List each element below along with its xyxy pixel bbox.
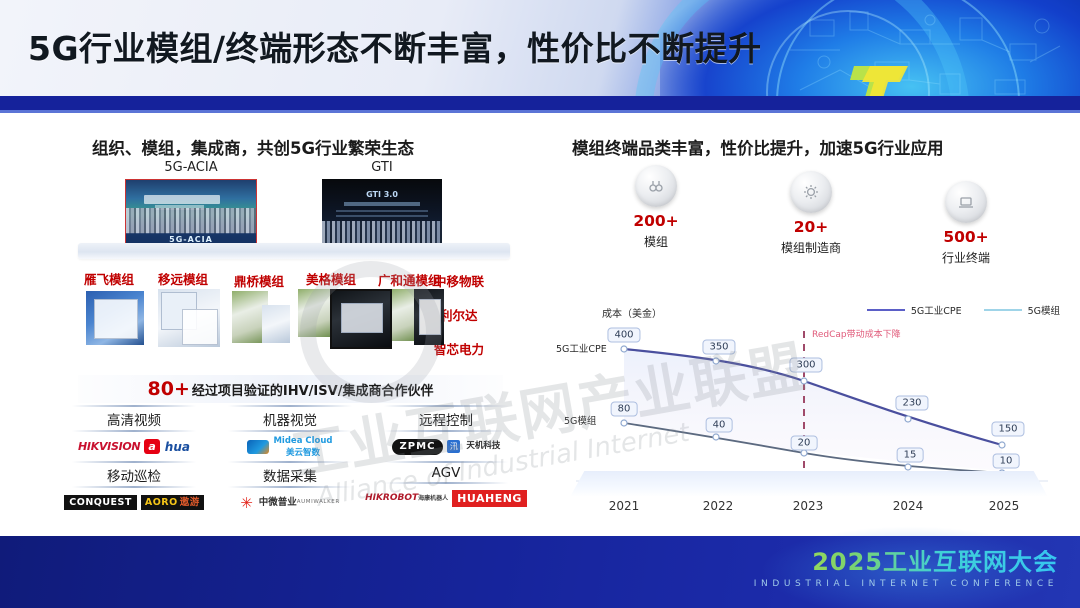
app-caption: 数据采集 (212, 461, 368, 488)
module-label-yanfei: 雁飞模组 (84, 269, 134, 288)
left-section-title: 组织、模组，集成商，共创5G行业繁荣生态 (92, 135, 414, 159)
cost-trend-chart: 成本（美金） 5G工业CPE 5G模组 5G工业CPE 5G模组 (556, 303, 1068, 535)
photo-screen-title: GTI 3.0 (322, 190, 442, 199)
stat-label: 模组制造商 (751, 239, 871, 256)
stat-value: 200+ (596, 212, 716, 230)
conquest-logo: CONQUEST (64, 495, 137, 511)
aoro-cn: 遨游 (180, 498, 200, 508)
slide-header: 5G行业模组/终端形态不断丰富，性价比不断提升 (0, 0, 1080, 112)
app-cell-mobile-inspection[interactable]: 移动巡检 CONQUEST AORO遨游 (56, 461, 212, 517)
org-card-5g-acia: 5G-ACIA 5G-ACIA (125, 160, 257, 247)
stat-modules: 200+ 模组 (596, 165, 716, 250)
chart-xtick-2023: 2023 (793, 499, 824, 513)
org-label: GTI (322, 160, 442, 175)
hikrobot-cn: 海康机器人 (418, 496, 448, 502)
app-cell-agv[interactable]: AGV HIKROBOT 海康机器人 HUAHENG (368, 461, 524, 517)
tianji-tech-logo: 天机科技 (466, 442, 500, 451)
right-section-title: 模组终端品类丰富，性价比提升，加速5G行业应用 (572, 135, 944, 159)
chart-xtick-2021: 2021 (609, 499, 640, 513)
app-cell-data-collection[interactable]: 数据采集 ✳ 中微普业 AUMIWALKER (212, 461, 368, 517)
stat-terminals: 500+ 行业终端 (906, 181, 1026, 266)
application-row-1: 高清视频 HIKVISION a hua 机器视觉 Midea Cloud 美云… (56, 405, 526, 461)
dahua-logo-mark: a (144, 439, 159, 454)
photo-screen-line-2 (336, 210, 427, 220)
aoro-en: AORO (145, 498, 178, 508)
chart-xtick-2024: 2024 (893, 499, 924, 513)
data-label-cpe-2022: 350 (702, 340, 735, 355)
org-photo: 5G-ACIA (125, 179, 257, 247)
conference-logo: 2025工业互联网大会 INDUSTRIAL INTERNET CONFEREN… (754, 550, 1058, 589)
app-cell-machine-vision[interactable]: 机器视觉 Midea Cloud 美云智数 (212, 405, 368, 461)
app-logos: ✳ 中微普业 AUMIWALKER (212, 488, 368, 517)
application-grid: 高清视频 HIKVISION a hua 机器视觉 Midea Cloud 美云… (56, 405, 526, 517)
stat-label: 模组 (596, 233, 716, 250)
application-row-2: 移动巡检 CONQUEST AORO遨游 数据采集 ✳ 中微普业 A (56, 461, 526, 517)
data-label-module-2024: 15 (897, 448, 924, 463)
partners-band: 80+ 经过项目验证的IHV/ISV/集成商合作伙伴 (78, 375, 503, 403)
aumiwalker-en: AUMIWALKER (297, 500, 340, 506)
data-label-cpe-2023: 300 (789, 358, 822, 373)
slide-footer: 2025工业互联网大会 INDUSTRIAL INTERNET CONFEREN… (0, 536, 1080, 608)
data-label-cpe-2021: 400 (607, 328, 640, 343)
midea-cloud-en: Midea Cloud (273, 436, 332, 446)
org-card-gti: GTI GTI 3.0 (322, 160, 442, 249)
aumiwalker-cn: 中微普业 (259, 498, 297, 508)
photo-screen-line (344, 202, 421, 206)
conference-subtitle: INDUSTRIAL INTERNET CONFERENCE (754, 579, 1058, 589)
factory-gear-icon (790, 171, 832, 213)
data-label-module-2023: 20 (791, 436, 818, 451)
stat-label: 行业终端 (906, 249, 1026, 266)
module-label-dingqiao: 鼎桥模组 (234, 271, 284, 290)
partners-count: 80+ (148, 378, 190, 400)
slide: 5G行业模组/终端形态不断丰富，性价比不断提升 组织、模组，集成商，共创5G行业… (0, 0, 1080, 608)
stats-row: 200+ 模组 20+ 模组制造商 500+ 行业终端 (566, 165, 1066, 285)
midea-cloud-cn: 美云智数 (286, 448, 320, 458)
chart-xtick-2025: 2025 (989, 499, 1020, 513)
chart-xtick-2022: 2022 (703, 499, 734, 513)
data-label-cpe-2024: 230 (895, 396, 928, 411)
stat-value: 500+ (906, 228, 1026, 246)
hikrobot-logo: HIKROBOT 海康机器人 (365, 494, 448, 503)
tianji-tech-icon: 汛 (447, 440, 460, 453)
data-label-cpe-2025: 150 (991, 422, 1024, 437)
chart-annotation-redcap: RedCap带动成本下降 (812, 327, 901, 340)
zpmc-logo: ZPMC (392, 439, 444, 455)
app-logos: ZPMC 汛 天机科技 (368, 432, 524, 461)
org-label: 5G-ACIA (125, 160, 257, 175)
app-logos: HIKVISION a hua (56, 432, 212, 461)
module-photo-yanfei (86, 291, 144, 345)
aoro-logo: AORO遨游 (141, 495, 204, 511)
data-label-module-2022: 40 (706, 418, 733, 433)
chart-pedestal (570, 471, 1048, 497)
aumiwalker-logo: 中微普业 AUMIWALKER (259, 498, 340, 508)
watermark-gear-icon (300, 261, 442, 403)
huaheng-logo: HUAHENG (452, 490, 527, 507)
org-photo: GTI 3.0 (322, 179, 442, 249)
photo-crowd (126, 208, 256, 234)
data-label-module-2025: 10 (993, 454, 1020, 469)
data-label-module-2021: 80 (611, 402, 638, 417)
app-logos: CONQUEST AORO遨游 (56, 488, 212, 517)
app-cell-remote-control[interactable]: 远程控制 ZPMC 汛 天机科技 (368, 405, 524, 461)
hikrobot-en: HIKROBOT (365, 494, 418, 503)
photo-screen-line (144, 195, 219, 204)
module-chip-icon (635, 165, 677, 207)
slide-body: 组织、模组，集成商，共创5G行业繁荣生态 5G-ACIA 5G-ACIA GTI… (0, 113, 1080, 536)
app-logos: Midea Cloud 美云智数 (212, 432, 368, 461)
dahua-logo-text: hua (165, 441, 190, 453)
app-caption: 高清视频 (56, 405, 212, 432)
conference-title: 2025工业互联网大会 (754, 550, 1058, 574)
module-label-yiyuan: 移远模组 (158, 269, 208, 288)
module-photo-yiyuan (158, 289, 220, 347)
app-caption: 远程控制 (368, 405, 524, 432)
midea-cloud-icon (247, 440, 269, 454)
aumiwalker-icon: ✳ (240, 494, 253, 512)
module-text-lierda: 利尔达 (440, 305, 478, 324)
app-cell-hd-video[interactable]: 高清视频 HIKVISION a hua (56, 405, 212, 461)
hikvision-logo: HIKVISION (78, 441, 140, 452)
app-logos: HIKROBOT 海康机器人 HUAHENG (368, 484, 524, 513)
shelf-divider-top (78, 243, 510, 259)
midea-cloud-logo: Midea Cloud 美云智数 (273, 436, 332, 458)
module-text-zhongyiwulian: 中移物联 (434, 271, 484, 290)
stat-manufacturers: 20+ 模组制造商 (751, 171, 871, 256)
app-caption: 移动巡检 (56, 461, 212, 488)
module-photo-dingqiao-b (262, 305, 290, 343)
page-title: 5G行业模组/终端形态不断丰富，性价比不断提升 (28, 22, 762, 70)
header-accent-bar (0, 96, 1080, 110)
terminal-device-icon (945, 181, 987, 223)
stat-value: 20+ (751, 218, 871, 236)
app-caption: AGV (368, 461, 524, 484)
app-caption: 机器视觉 (212, 405, 368, 432)
